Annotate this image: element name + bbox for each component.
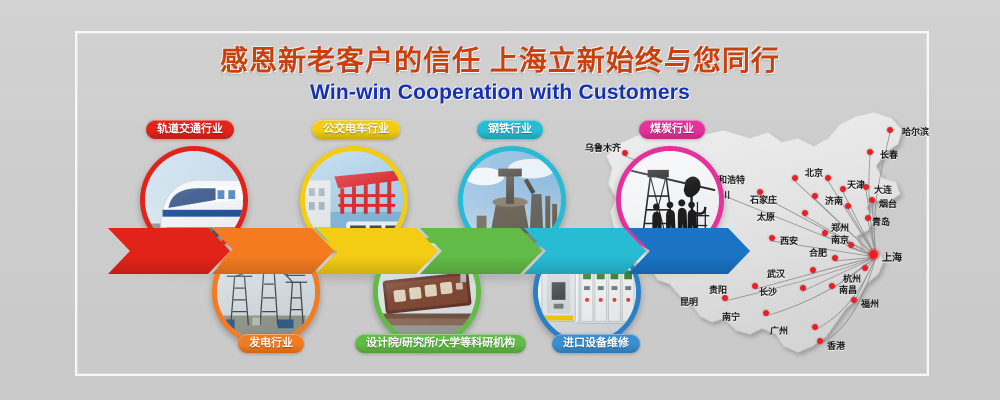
ribbon-segment — [316, 228, 438, 274]
map-city-dot — [800, 285, 806, 291]
map-city-label: 大连 — [874, 183, 892, 196]
map-city-dot — [825, 175, 831, 181]
map-city-dot — [829, 283, 835, 289]
map-city-dot — [763, 310, 769, 316]
ribbon-segment — [524, 228, 646, 274]
map-city-label: 福州 — [861, 297, 879, 310]
map-city-label: 烟台 — [879, 197, 897, 210]
map-city-label: 南昌 — [839, 283, 857, 296]
map-city-label: 武汉 — [767, 267, 785, 280]
map-city-label: 西安 — [780, 234, 798, 247]
map-city-label: 天津 — [847, 178, 865, 191]
map-city-label: 南宁 — [722, 310, 740, 323]
industry-label-pill[interactable]: 设计院/研究所/大学等科研机构 — [355, 334, 526, 353]
map-city-dot — [851, 297, 857, 303]
map-city-label: 济南 — [825, 194, 843, 207]
industry-label-pill[interactable]: 煤炭行业 — [639, 120, 705, 139]
map-city-dot — [792, 175, 798, 181]
map-city-dot — [867, 149, 873, 155]
map-city-dot — [812, 193, 818, 199]
map-city-label: 太原 — [757, 210, 775, 223]
map-city-dot — [869, 197, 875, 203]
map-city-dot — [802, 210, 808, 216]
map-city-dot — [722, 295, 728, 301]
map-city-dot — [769, 235, 775, 241]
industry-label-pill[interactable]: 公交电车行业 — [312, 120, 400, 139]
map-city-dot — [845, 203, 851, 209]
map-city-label: 南京 — [831, 233, 849, 246]
map-city-dot — [752, 283, 758, 289]
industry-label-pill[interactable]: 轨道交通行业 — [146, 120, 234, 139]
map-city-label: 昆明 — [680, 295, 698, 308]
map-city-label: 哈尔滨 — [902, 125, 929, 138]
map-city-label: 乌鲁木齐 — [585, 141, 621, 154]
ribbon-segment — [420, 228, 542, 274]
ribbon-segment — [108, 228, 230, 274]
map-city-label: 青岛 — [872, 215, 890, 228]
ribbon-segment — [628, 228, 750, 274]
map-city-label: 上海 — [882, 249, 902, 264]
map-city-dot — [863, 184, 869, 190]
map-city-label: 广州 — [770, 324, 788, 337]
industry-label-pill[interactable]: 钢铁行业 — [477, 120, 543, 139]
map-city-dot — [840, 186, 846, 192]
map-city-dot — [810, 267, 816, 273]
banner-stage: 感恩新老客户的信任 上海立新始终与您同行 Win-win Cooperation… — [0, 0, 1000, 400]
map-city-label: 长沙 — [759, 285, 777, 298]
ribbon-segment — [212, 228, 334, 274]
map-city-label: 长春 — [880, 148, 898, 161]
map-city-dot — [817, 338, 823, 344]
map-city-dot — [887, 127, 893, 133]
map-city-label: 北京 — [805, 166, 823, 179]
chevron-ribbon — [108, 228, 748, 274]
map-city-dot — [865, 215, 871, 221]
map-city-dot — [812, 324, 818, 330]
headline-english: Win-win Cooperation with Customers — [0, 80, 1000, 106]
map-city-label: 香港 — [827, 339, 845, 352]
industry-label-pill[interactable]: 进口设备维修 — [552, 334, 640, 353]
map-city-dot — [862, 265, 868, 271]
map-city-dot — [832, 255, 838, 261]
industry-label-pill[interactable]: 发电行业 — [238, 334, 304, 353]
headline-chinese: 感恩新老客户的信任 上海立新始终与您同行 — [0, 44, 1000, 78]
page-title: 感恩新老客户的信任 上海立新始终与您同行 Win-win Cooperation… — [0, 44, 1000, 106]
map-city-label: 石家庄 — [750, 193, 777, 206]
map-city-dot — [822, 230, 828, 236]
map-city-label: 合肥 — [809, 246, 827, 259]
map-hub-dot — [869, 250, 878, 259]
